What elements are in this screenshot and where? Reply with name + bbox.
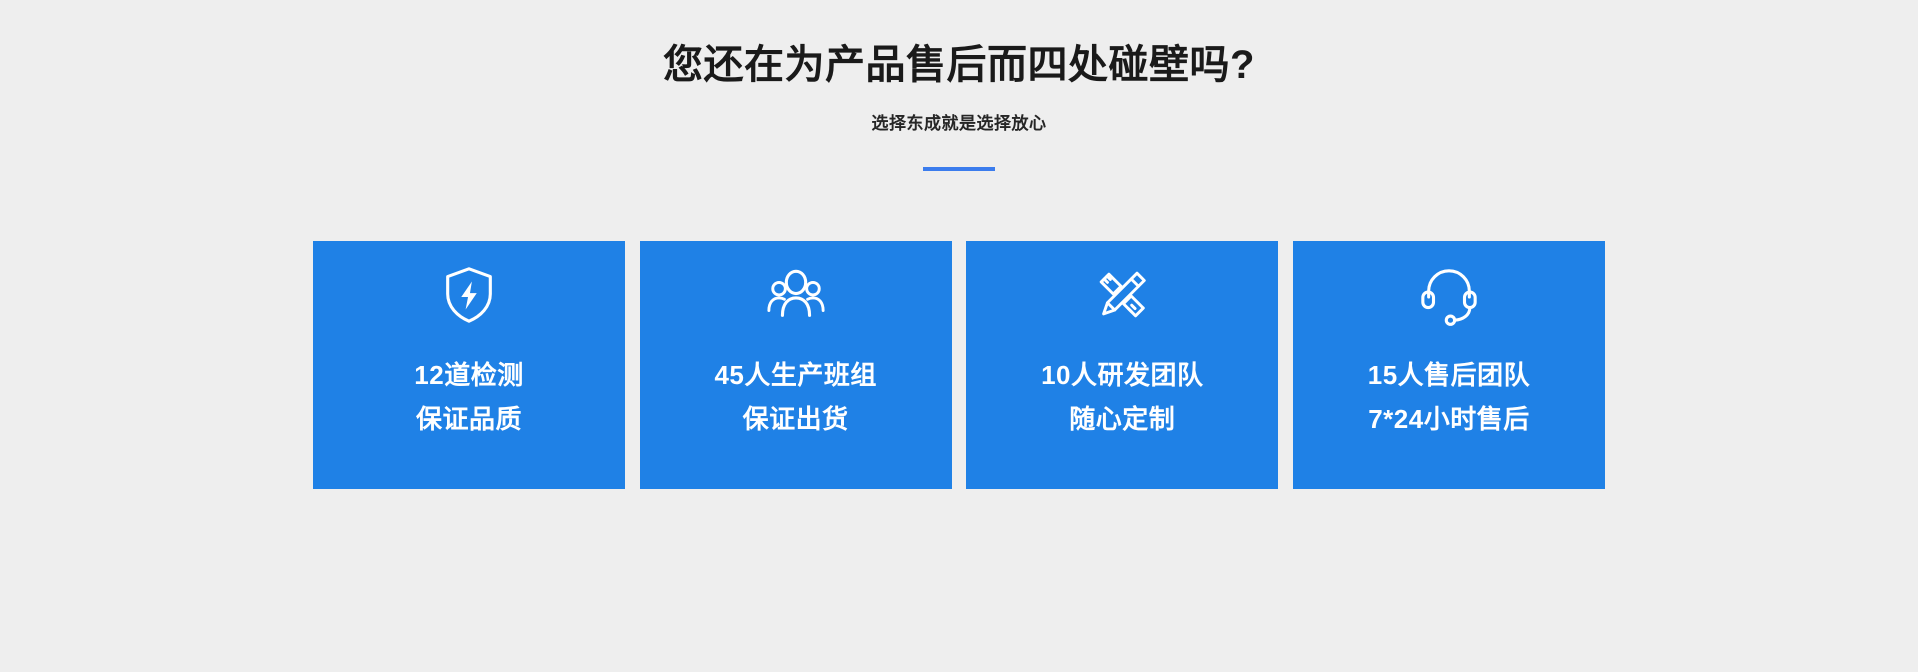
feature-card-line-1: 12道检测 — [414, 353, 523, 397]
feature-card[interactable]: 45人生产班组 保证出货 — [640, 241, 952, 489]
feature-card-line-2: 随心定制 — [1041, 397, 1203, 441]
feature-card-line-2: 保证出货 — [714, 397, 876, 441]
feature-card-line-2: 7*24小时售后 — [1368, 397, 1530, 441]
feature-card-list: 12道检测 保证品质 45人生产班组 保证出货 — [313, 241, 1605, 489]
headset-icon — [1417, 263, 1481, 327]
promo-section: 您还在为产品售后而四处碰壁吗? 选择东成就是选择放心 12道检测 保证品质 — [0, 0, 1918, 672]
feature-card-text: 45人生产班组 保证出货 — [714, 353, 876, 441]
feature-card-line-1: 15人售后团队 — [1368, 353, 1530, 397]
section-subtitle: 选择东成就是选择放心 — [0, 90, 1918, 136]
shield-bolt-icon — [437, 263, 501, 327]
feature-card[interactable]: 10人研发团队 随心定制 — [966, 241, 1278, 489]
section-header: 您还在为产品售后而四处碰壁吗? 选择东成就是选择放心 — [0, 0, 1918, 176]
feature-card[interactable]: 15人售后团队 7*24小时售后 — [1293, 241, 1605, 489]
feature-card-line-1: 10人研发团队 — [1041, 353, 1203, 397]
feature-card-line-2: 保证品质 — [414, 397, 523, 441]
feature-card-text: 10人研发团队 随心定制 — [1041, 353, 1203, 441]
divider-container — [0, 136, 1918, 176]
feature-card[interactable]: 12道检测 保证品质 — [313, 241, 625, 489]
page-title: 您还在为产品售后而四处碰壁吗? — [0, 40, 1918, 90]
pencil-ruler-icon — [1090, 263, 1154, 327]
accent-divider — [923, 167, 995, 171]
feature-card-text: 15人售后团队 7*24小时售后 — [1368, 353, 1530, 441]
feature-card-text: 12道检测 保证品质 — [414, 353, 523, 441]
feature-card-line-1: 45人生产班组 — [714, 353, 876, 397]
people-group-icon — [764, 263, 828, 327]
